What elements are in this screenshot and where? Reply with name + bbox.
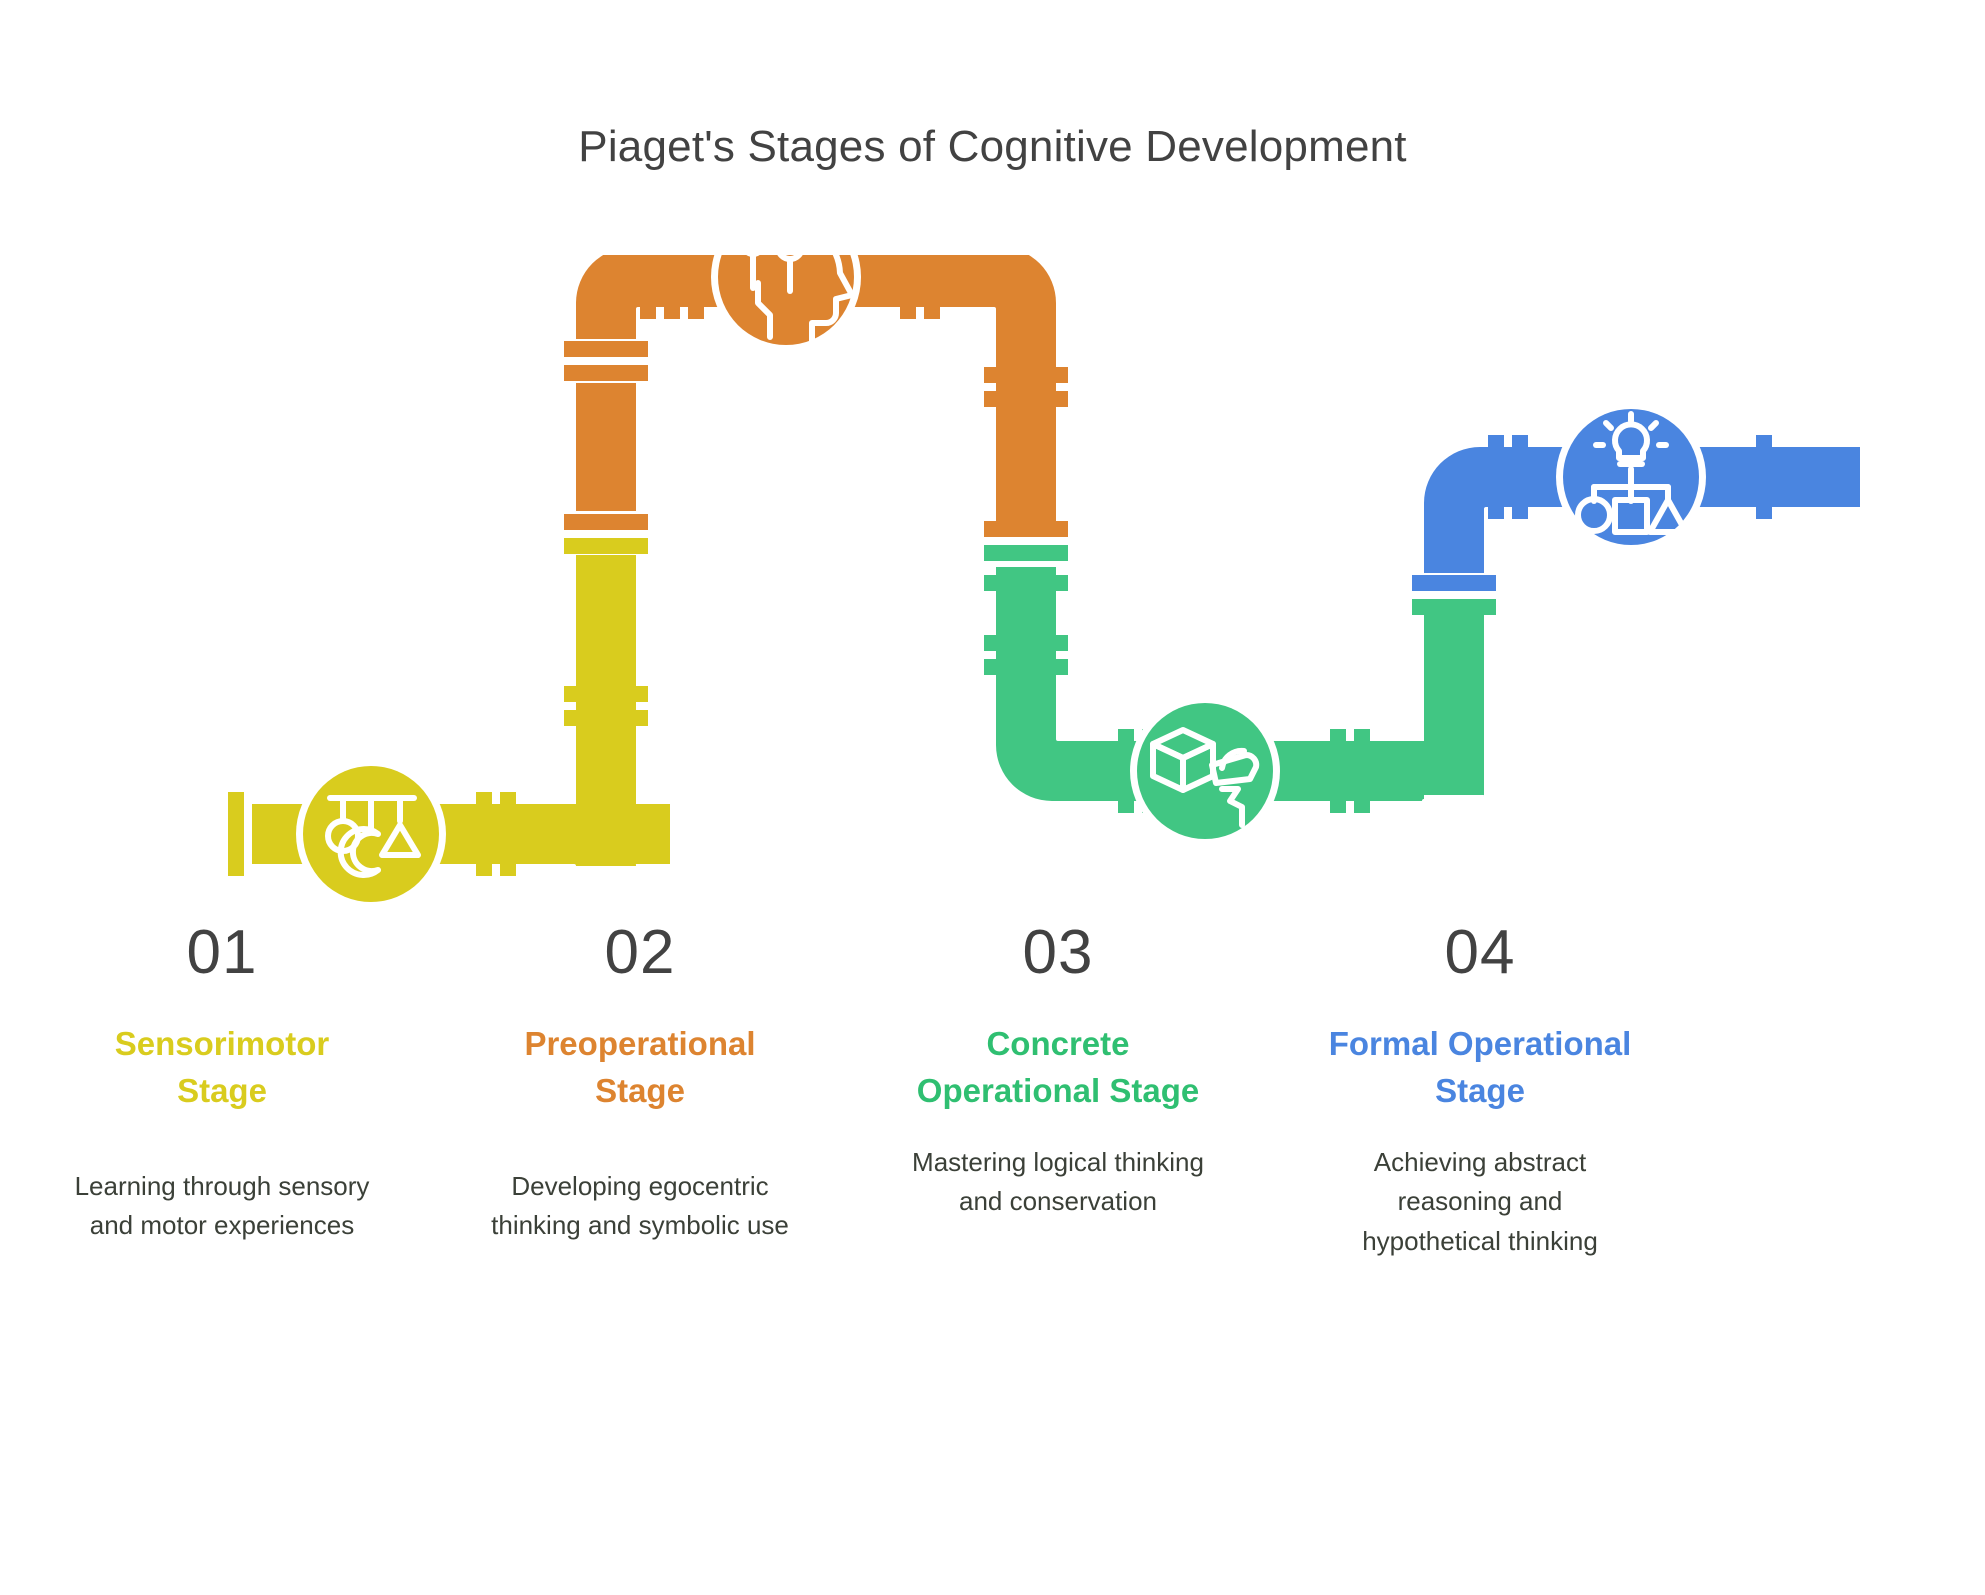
- stage-icon-node-3[interactable]: [1130, 696, 1280, 846]
- flange-ring-transition: [984, 521, 1068, 537]
- flange-ring: [900, 255, 916, 319]
- flange-ring: [640, 255, 656, 319]
- stage-title: Sensorimotor Stage: [67, 1021, 377, 1115]
- stage-number: 02: [605, 920, 676, 985]
- flange-ring-transition: [1412, 599, 1496, 615]
- flange-ring: [984, 659, 1068, 675]
- flange-ring: [1330, 729, 1346, 813]
- stage-number: 01: [187, 920, 258, 985]
- stage-column-1: 01 Sensorimotor Stage Learning through s…: [42, 920, 402, 1246]
- flange-ring-transition: [984, 545, 1068, 561]
- infographic-canvas: Piaget's Stages of Cognitive Development: [0, 0, 1985, 1595]
- flange-ring: [688, 255, 704, 319]
- pipe-vertical: [1424, 615, 1484, 795]
- pipe-horizontal: [1700, 447, 1860, 507]
- pipeline-diagram: [0, 255, 1985, 905]
- flange-ring: [924, 255, 940, 319]
- pipe-vertical: [576, 555, 636, 683]
- page-title: Piaget's Stages of Cognitive Development: [0, 122, 1985, 172]
- flange-ring-transition: [564, 514, 648, 530]
- pipe-elbow: [996, 675, 1120, 801]
- flange-ring-transition: [1412, 575, 1496, 591]
- flange-ring: [1354, 729, 1370, 813]
- flange-ring: [564, 686, 648, 702]
- stage-column-3: 03 Concrete Operational Stage Mastering …: [878, 920, 1238, 1222]
- stage-description: Mastering logical thinking and conservat…: [903, 1143, 1213, 1222]
- stage-description: Developing egocentric thinking and symbo…: [485, 1167, 795, 1246]
- pipe-vertical: [576, 383, 636, 511]
- stage-number: 04: [1445, 920, 1516, 985]
- flange-ring: [500, 792, 516, 876]
- stage-icon-node-1[interactable]: [296, 759, 446, 905]
- stage-title: Concrete Operational Stage: [903, 1021, 1213, 1115]
- stage-number: 03: [1023, 920, 1094, 985]
- flange-ring: [1512, 435, 1528, 519]
- flange-ring: [228, 792, 244, 876]
- flange-ring: [984, 367, 1068, 383]
- stage-description: Learning through sensory and motor exper…: [67, 1167, 377, 1246]
- flange-ring: [1488, 435, 1504, 519]
- pipe-vertical: [996, 413, 1056, 523]
- pipe-segment-stage-1: [228, 538, 670, 876]
- flange-ring: [1756, 435, 1772, 519]
- flange-ring: [564, 341, 648, 357]
- flange-ring-transition: [564, 538, 648, 554]
- flange-ring: [984, 635, 1068, 651]
- flange-ring: [664, 255, 680, 319]
- stage-column-2: 02 Preoperational Stage Developing egoce…: [460, 920, 820, 1246]
- stage-title: Preoperational Stage: [485, 1021, 795, 1115]
- flange-ring: [476, 792, 492, 876]
- flange-ring: [564, 710, 648, 726]
- flange-ring: [984, 575, 1068, 591]
- stage-title: Formal Operational Stage: [1325, 1021, 1635, 1115]
- flange-ring: [984, 391, 1068, 407]
- stage-list: 01 Sensorimotor Stage Learning through s…: [0, 920, 1985, 1420]
- flange-ring: [564, 365, 648, 381]
- stage-description: Achieving abstract reasoning and hypothe…: [1325, 1143, 1635, 1262]
- stage-icon-node-2[interactable]: [711, 255, 861, 352]
- stage-icon-node-4[interactable]: [1556, 402, 1706, 552]
- stage-column-4: 04 Formal Operational Stage Achieving ab…: [1300, 920, 1660, 1261]
- pipe-elbow: [940, 255, 1056, 375]
